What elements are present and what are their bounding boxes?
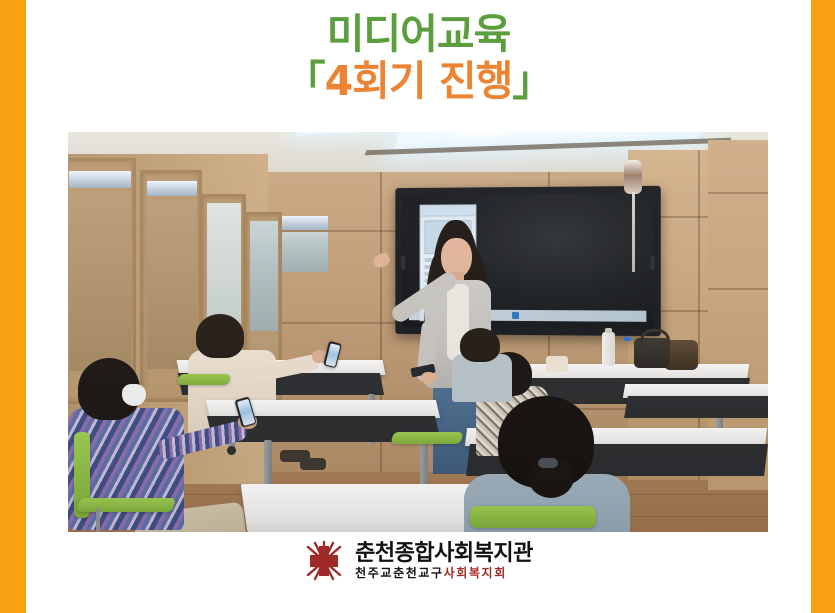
water-bottle	[602, 332, 615, 366]
face-mask	[122, 384, 146, 406]
organization-subtitle: 천주교춘천교구사회복지회	[355, 567, 507, 580]
hanging-decoration	[624, 160, 642, 194]
hanging-decoration-tail	[632, 192, 635, 272]
subtitle-welfare: 사회복지회	[444, 566, 507, 580]
classroom-photo	[68, 132, 768, 532]
title-highlight: 4회기 진행	[325, 57, 513, 105]
organization-logo: 춘천종합사회복지관 천주교춘천교구사회복지회	[0, 540, 835, 582]
title-line-2: 「4회기 진행」	[26, 61, 811, 102]
black-bag	[634, 338, 670, 368]
chair-right	[391, 432, 464, 444]
upper-window	[282, 232, 328, 272]
logo-text-group: 춘천종합사회복지관 천주교춘천교구사회복지회	[355, 542, 533, 580]
chair-back-left	[177, 374, 231, 385]
hair-tie	[538, 458, 558, 468]
caritas-cross-icon	[302, 540, 346, 582]
poster-canvas: 미디어교육 「4회기 진행」	[0, 0, 835, 613]
bracket-open: 「	[285, 57, 325, 105]
upper-window-blind	[282, 216, 328, 230]
bracket-close: 」	[512, 57, 552, 105]
subtitle-diocese: 천주교춘천교구	[355, 566, 443, 580]
title-block: 미디어교육 「4회기 진행」	[26, 14, 811, 102]
left-orange-border	[0, 0, 26, 613]
right-orange-border	[811, 0, 835, 613]
chair-foreground	[470, 506, 596, 528]
organization-name: 춘천종합사회복지관	[355, 542, 533, 565]
whiteboard-power-led	[624, 337, 631, 341]
title-line-1: 미디어교육	[26, 14, 811, 55]
tissue	[546, 356, 568, 372]
photo-scene	[68, 132, 768, 532]
